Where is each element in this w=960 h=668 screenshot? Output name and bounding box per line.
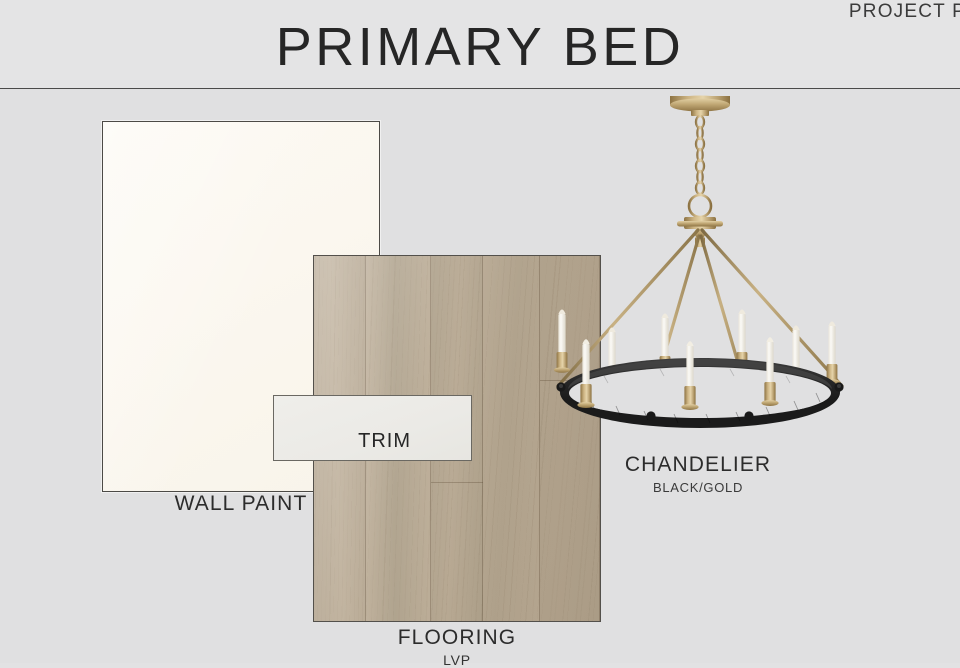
flooring-sub-label: LVP <box>313 652 601 668</box>
board-header-band: PROJECT P PRIMARY BED <box>0 0 960 89</box>
page-title: PRIMARY BED <box>0 20 960 74</box>
chandelier-label: CHANDELIER <box>578 453 818 477</box>
trim-swatch[interactable]: TRIM <box>273 395 472 461</box>
mood-board: PROJECT P PRIMARY BED WALL PAINT FLOORIN… <box>0 0 960 663</box>
chandelier-ring <box>560 358 840 428</box>
flooring-seam <box>431 482 483 483</box>
chandelier-icon[interactable] <box>520 86 880 446</box>
flooring-label: FLOORING <box>313 626 601 650</box>
chandelier-sub-label: BLACK/GOLD <box>578 480 818 495</box>
trim-label: TRIM <box>358 430 411 453</box>
